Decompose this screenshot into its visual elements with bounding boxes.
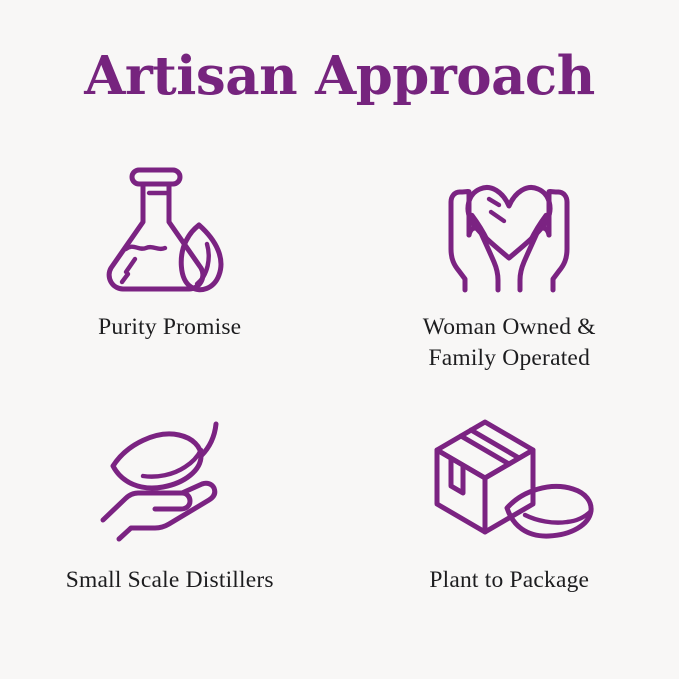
feature-item-woman-owned: Woman Owned & Family Operated xyxy=(340,152,679,397)
box-leaf-icon xyxy=(424,413,594,543)
feature-label-line1: Woman Owned & xyxy=(423,314,596,340)
feature-label: Plant to Package xyxy=(429,565,589,596)
feature-item-small-scale-distillers: Small Scale Distillers xyxy=(0,397,340,642)
feature-label-line1: Plant to Package xyxy=(429,567,589,593)
hands-heart-icon xyxy=(424,160,594,290)
hand-leaf-icon xyxy=(85,413,255,543)
feature-item-purity-promise: Purity Promise xyxy=(0,152,340,397)
feature-grid: Purity Promise xyxy=(0,152,679,642)
artisan-approach-panel: Artisan Approach xyxy=(0,0,679,679)
feature-label: Purity Promise xyxy=(98,312,241,343)
feature-label: Small Scale Distillers xyxy=(66,565,274,596)
flask-leaf-icon xyxy=(85,160,255,290)
feature-label-line1: Purity Promise xyxy=(98,314,241,340)
feature-label-line1: Small Scale Distillers xyxy=(66,567,274,593)
page-title: Artisan Approach xyxy=(0,47,679,106)
feature-label: Woman Owned & Family Operated xyxy=(423,312,596,375)
feature-item-plant-to-package: Plant to Package xyxy=(340,397,679,642)
feature-label-line2: Family Operated xyxy=(423,343,596,374)
